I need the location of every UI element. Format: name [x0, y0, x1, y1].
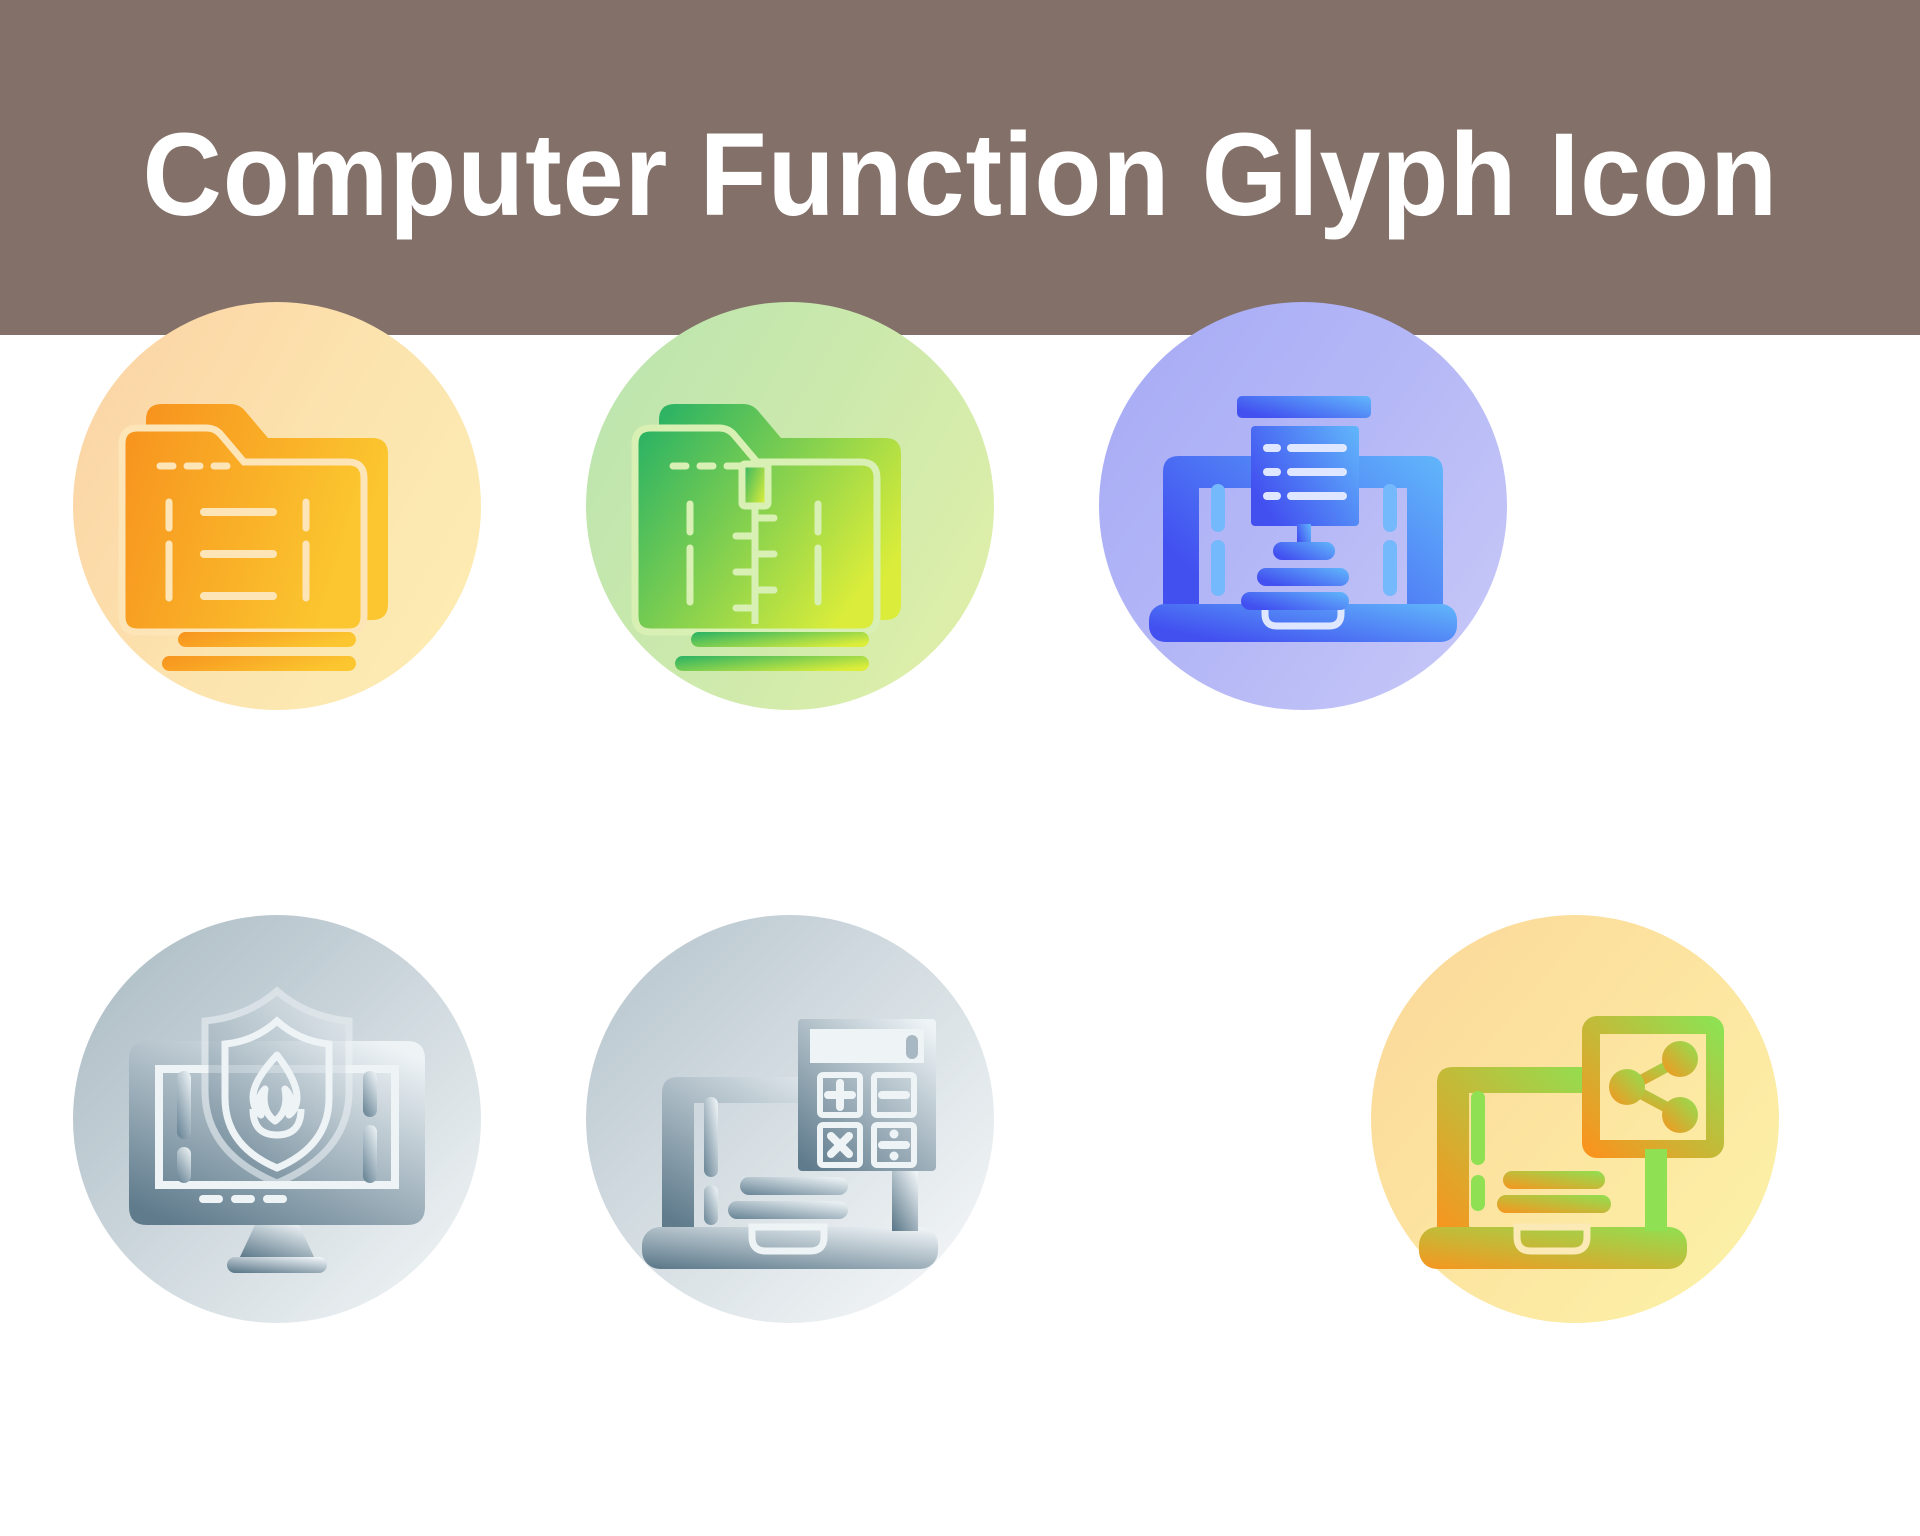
- zipper-pull: [742, 464, 768, 506]
- calculator-stand: [892, 1171, 918, 1231]
- icon-cell-laptop-share[interactable]: [1319, 863, 1831, 1375]
- icon-art-firewall-monitor: [107, 949, 447, 1289]
- monitor-stand-base: [227, 1257, 327, 1273]
- icon-art-folder-document: [107, 336, 447, 676]
- icon-cell-firewall-monitor[interactable]: [21, 863, 533, 1375]
- keyboard-bars: [728, 1177, 848, 1219]
- icon-art-laptop-calculator: [620, 949, 960, 1289]
- folder-base-bars: [675, 632, 869, 671]
- icon-cell-folder-document[interactable]: [21, 250, 533, 762]
- share-nodes: [1609, 1041, 1698, 1133]
- poster-root: Computer Function Glyph Icon: [0, 0, 1920, 1536]
- folder-base-bars: [162, 632, 356, 671]
- icon-art-zip-folder: [620, 336, 960, 676]
- laptop-side-dashes: [704, 1097, 718, 1225]
- share-node-bottom: [1662, 1097, 1698, 1133]
- icon-cell-zip-folder[interactable]: [534, 250, 1046, 762]
- icon-cell-laptop-calculator[interactable]: [534, 863, 1046, 1375]
- laptop-side-dashes: [1471, 1091, 1485, 1211]
- icon-cell-laptop-document[interactable]: [1047, 250, 1559, 762]
- document-stand-base: [1273, 542, 1335, 560]
- share-connector: [1645, 1149, 1667, 1231]
- document-header-bar: [1237, 396, 1371, 418]
- keyboard-bars: [1241, 568, 1349, 610]
- monitor-stand: [239, 1225, 315, 1259]
- page-title: Computer Function Glyph Icon: [142, 116, 1777, 234]
- calculator-display-cursor: [906, 1035, 918, 1059]
- icon-grid: [0, 335, 1920, 1536]
- share-node-left: [1609, 1069, 1645, 1105]
- icon-art-laptop-document: [1133, 336, 1473, 676]
- share-node-top: [1662, 1041, 1698, 1077]
- keyboard-bars: [1497, 1171, 1611, 1213]
- icon-art-laptop-share: [1405, 949, 1745, 1289]
- folder-front-shape: [122, 428, 364, 632]
